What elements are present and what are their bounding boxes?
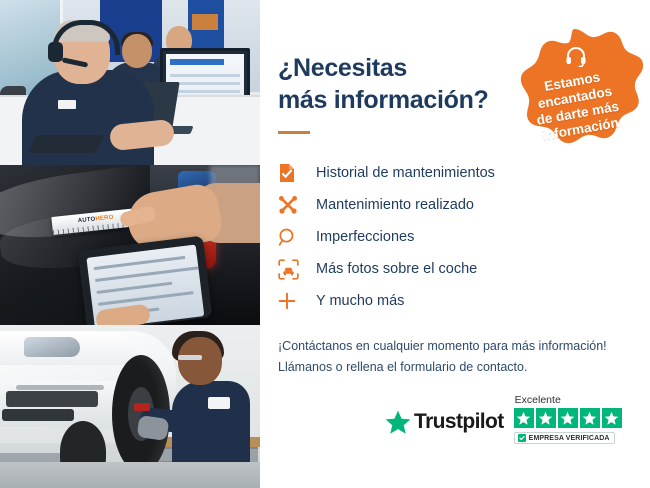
title-divider	[278, 131, 310, 134]
contact-paragraph: ¡Contáctanos en cualquier momento para m…	[278, 336, 638, 379]
trustpilot-wordmark: Trustpilot	[414, 410, 504, 434]
headset-icon	[564, 45, 588, 67]
photo-column: AUTOHERO	[0, 0, 260, 488]
wall-poster-accent	[192, 14, 218, 30]
mechanic-logo-badge	[208, 397, 230, 409]
trustpilot-widget[interactable]: Trustpilot Excelente EMPRESA VERIFICADA	[385, 388, 650, 450]
page-title-line-1: ¿Necesitas	[278, 54, 407, 82]
ruler-brand-label: AUTOHERO	[78, 215, 114, 225]
tablet-row	[96, 282, 172, 294]
tools-wrench-screwdriver-icon	[278, 195, 306, 215]
plus-icon	[278, 292, 306, 310]
star-filled	[514, 408, 534, 428]
screen-row	[170, 74, 240, 77]
ruler-brand-hero: HERO	[95, 215, 114, 223]
agent-name-badge	[58, 100, 76, 109]
car-scan-icon	[278, 259, 306, 280]
photo-call-center	[0, 0, 260, 165]
trustpilot-stars	[514, 408, 622, 428]
magnifier-icon	[278, 228, 306, 247]
feature-label: Más fotos sobre el coche	[306, 261, 477, 277]
agent-headset-earcup	[48, 42, 63, 62]
feature-item-more-photos: Más fotos sobre el coche	[278, 253, 638, 285]
screen-row	[170, 82, 240, 85]
ruler-brand-auto: AUTO	[78, 216, 96, 224]
second-agent-head	[122, 34, 152, 68]
desk-tablet	[28, 135, 104, 153]
star-filled	[558, 408, 578, 428]
workshop-floor	[0, 462, 260, 488]
content-panel: ¿Necesitas más información? Estamos enca…	[260, 0, 650, 488]
star-filled	[536, 408, 556, 428]
mechanic-head	[178, 337, 222, 385]
trustpilot-rating-label: Excelente	[515, 394, 561, 406]
maintenance-history-icon	[278, 163, 306, 183]
photo-car-inspection: AUTOHERO	[0, 165, 260, 325]
star-filled	[602, 408, 622, 428]
trustpilot-rating-block: Excelente EMPRESA VERIFICADA	[514, 394, 622, 444]
bumper-chrome-trim	[16, 385, 104, 390]
car-grille-upper	[6, 391, 98, 407]
verified-business-badge: EMPRESA VERIFICADA	[514, 432, 615, 444]
screen-row	[170, 90, 240, 93]
star-filled	[580, 408, 600, 428]
mechanic-glove	[137, 415, 170, 441]
feature-item-much-more: Y mucho más	[278, 285, 638, 317]
feature-item-imperfections: Imperfecciones	[278, 221, 638, 253]
page-title-line-2: más información?	[278, 84, 528, 116]
feature-item-maintenance-done: Mantenimiento realizado	[278, 189, 638, 221]
feature-list: Historial de mantenimientos Mantenimient…	[278, 157, 638, 317]
trustpilot-logo[interactable]: Trustpilot	[385, 410, 504, 435]
trustpilot-star-icon	[385, 410, 411, 435]
mechanic-tool	[134, 403, 150, 411]
tablet-row	[98, 291, 194, 306]
feature-label: Historial de mantenimientos	[306, 165, 495, 181]
feature-label: Mantenimiento realizado	[306, 197, 474, 213]
feature-label: Y mucho más	[306, 293, 404, 309]
photo-mechanic-wheel	[0, 325, 260, 488]
screen-header-bar	[170, 59, 224, 65]
verified-business-label: EMPRESA VERIFICADA	[529, 435, 610, 442]
car-headlight	[24, 337, 80, 357]
car-grille-lower	[2, 409, 74, 421]
tablet-row	[95, 266, 199, 282]
promo-starburst-badge: Estamos encantados de darte más informac…	[503, 25, 646, 165]
check-icon	[518, 434, 526, 442]
contact-line-1: ¡Contáctanos en cualquier momento para m…	[278, 336, 638, 358]
mechanic-safety-glasses	[178, 355, 202, 360]
info-cta-banner: AUTOHERO	[0, 0, 650, 488]
feature-label: Imperfecciones	[306, 229, 414, 245]
feature-item-maintenance-history: Historial de mantenimientos	[278, 157, 638, 189]
page-title: ¿Necesitas más información?	[278, 52, 528, 116]
tablet-row	[94, 256, 186, 270]
contact-line-2: Llámanos o rellena el formulario de cont…	[278, 357, 638, 379]
